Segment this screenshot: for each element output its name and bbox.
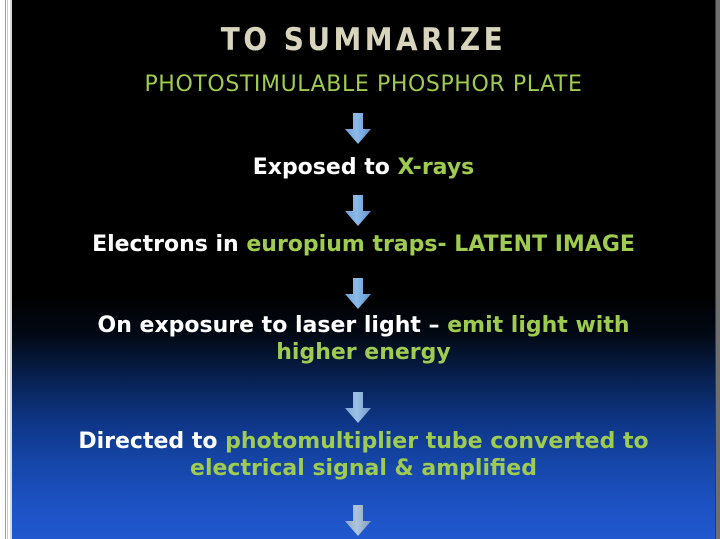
flow-step-laser-line-2: higher energy — [12, 340, 715, 367]
flow-step-laser-green-b: higher energy — [276, 340, 451, 365]
slide-title: TO SUMMARIZE — [12, 22, 715, 58]
flow-step-laser-line-1: On exposure to laser light – emit light … — [12, 313, 715, 340]
flow-step-electrons-green: europium traps- LATENT IMAGE — [246, 232, 635, 257]
flow-step-exposed-green: X-rays — [398, 155, 475, 180]
flow-step-pmt-green-b: electrical signal & amplified — [190, 456, 537, 481]
arrow-down-icon — [341, 112, 375, 146]
slide-subtitle: PHOTOSTIMULABLE PHOSPHOR PLATE — [12, 72, 715, 97]
flow-step-pmt-green-a: photomultiplier tube converted to — [225, 429, 649, 454]
slide-canvas: TO SUMMARIZE PHOTOSTIMULABLE PHOSPHOR PL… — [12, 0, 715, 539]
arrow-down-icon — [341, 277, 375, 311]
arrow-down-icon — [341, 391, 375, 425]
flow-step-electrons-white: Electrons in — [92, 232, 246, 257]
flow-step-electrons: Electrons in europium traps- LATENT IMAG… — [12, 232, 715, 259]
flow-step-laser-green-a: emit light with — [447, 313, 629, 338]
arrow-down-icon — [341, 194, 375, 228]
flow-step-exposed-white: Exposed to — [253, 155, 398, 180]
flow-step-pmt-line-2: electrical signal & amplified — [12, 456, 715, 483]
flow-step-laser: On exposure to laser light – emit light … — [12, 313, 715, 367]
flow-step-pmt: Directed to photomultiplier tube convert… — [12, 429, 715, 483]
slide-left-border — [0, 0, 12, 539]
flow-step-pmt-line-1: Directed to photomultiplier tube convert… — [12, 429, 715, 456]
slide-frame: TO SUMMARIZE PHOTOSTIMULABLE PHOSPHOR PL… — [0, 0, 720, 539]
arrow-down-icon — [341, 504, 375, 538]
slide-right-border — [715, 0, 720, 539]
flow-step-pmt-white: Directed to — [78, 429, 225, 454]
slide-left-border-inner-rule — [10, 0, 12, 539]
flow-step-laser-white: On exposure to laser light – — [98, 313, 448, 338]
flow-step-exposed: Exposed to X-rays — [12, 155, 715, 182]
